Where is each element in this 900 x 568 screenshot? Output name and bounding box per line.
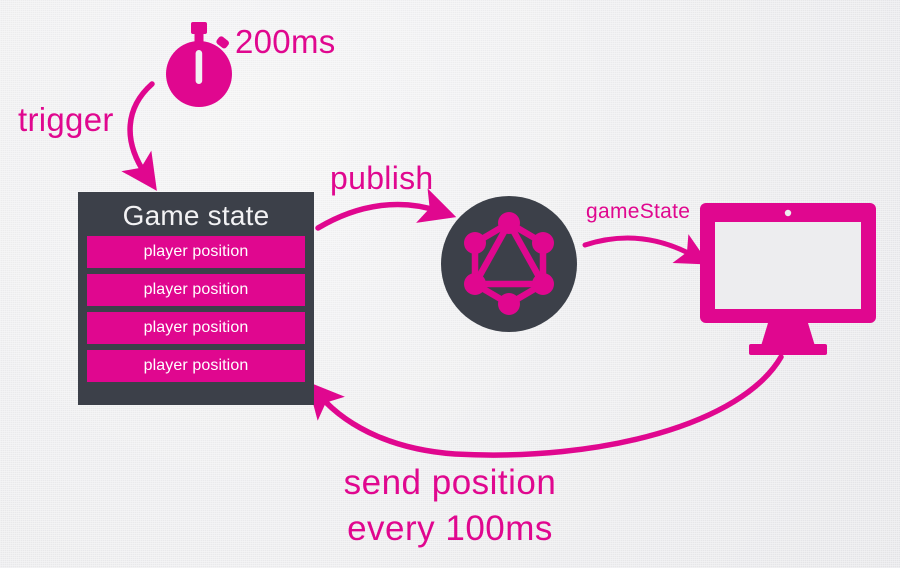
player-position-label: player position [144, 281, 249, 299]
graphql-logo-icon [441, 196, 577, 332]
diagram-canvas: 200ms trigger Game state player position… [0, 0, 900, 568]
trigger-label: trigger [18, 101, 114, 139]
player-position-label: player position [144, 357, 249, 375]
player-position-label: player position [144, 243, 249, 261]
gamestate-arrow [585, 238, 694, 256]
game-state-box: Game state player position player positi… [78, 192, 314, 405]
send-position-line-2: every 100ms [0, 506, 900, 552]
send-position-line-1: send position [344, 463, 557, 502]
player-position-label: player position [144, 319, 249, 337]
player-position-row: player position [87, 274, 305, 306]
timer-interval-label: 200ms [235, 23, 336, 61]
desktop-monitor-icon [698, 203, 878, 355]
gamestate-arrow-label: gameState [586, 200, 690, 224]
publish-arrow [318, 204, 438, 228]
trigger-arrow [130, 84, 152, 175]
game-state-title: Game state [87, 198, 305, 236]
player-position-row: player position [87, 350, 305, 382]
send-position-arrow [320, 357, 781, 455]
send-position-label: send position every 100ms [0, 460, 900, 552]
player-position-row: player position [87, 312, 305, 344]
publish-label: publish [330, 160, 434, 197]
stopwatch-icon [160, 22, 238, 108]
player-position-row: player position [87, 236, 305, 268]
